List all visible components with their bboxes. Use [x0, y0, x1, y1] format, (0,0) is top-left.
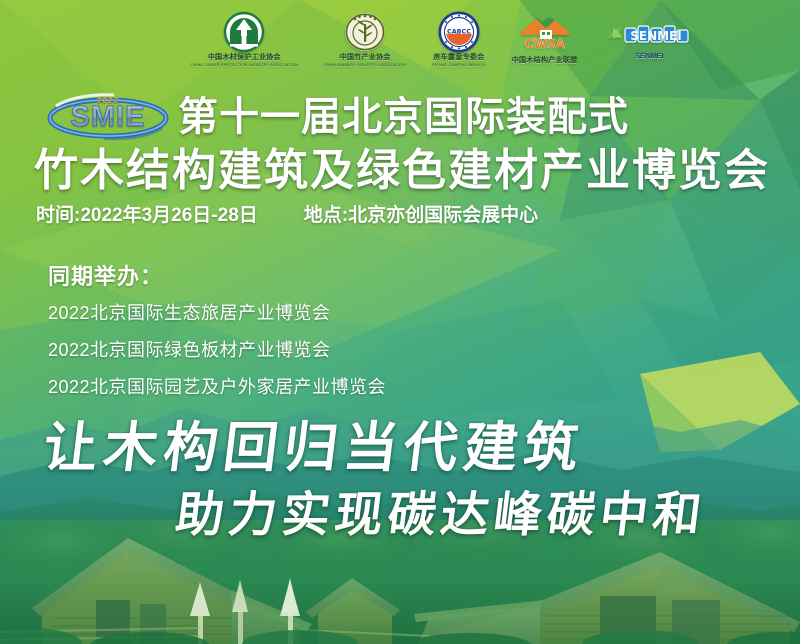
svg-text:CWSA: CWSA: [525, 37, 566, 51]
sponsor-name-en-bamboo-industry-association: CHINA BAMBOO INDUSTRY ASSOCIATION: [324, 63, 406, 68]
pine-tree-shield-icon: [223, 11, 265, 53]
sponsor-logo-strip: 中国木材保护工业协会 CHINA TIMBER PROTECTION INDUS…: [0, 0, 800, 78]
concurrent-events-heading: 同期举办：: [48, 264, 568, 290]
svg-text:SENMEI: SENMEI: [631, 29, 683, 43]
page-title-line-1: 第十一届北京国际装配式: [0, 92, 800, 142]
page-title-line-2: 竹木结构建筑及绿色建材产业博览会: [0, 142, 800, 198]
house-roof-cwsa-icon: CWSA: [516, 14, 574, 56]
sponsor-logo-cabcc-rv-camping[interactable]: CABCC 房车露营专委会 RV AND CAMPING BRANCH: [432, 11, 486, 68]
cabcc-round-badge-icon: CABCC: [438, 11, 480, 53]
event-date: 时间:2022年3月26日-28日: [36, 204, 258, 228]
sponsor-logo-china-timber-association[interactable]: 中国木材保护工业协会 CHINA TIMBER PROTECTION INDUS…: [191, 11, 299, 68]
title-block: 第十一届北京国际装配式 竹木结构建筑及绿色建材产业博览会: [0, 92, 800, 198]
bamboo-oval-star-icon: [344, 11, 386, 53]
sponsor-name-en-china-timber-association: CHINA TIMBER PROTECTION INDUSTRY ASSOCIA…: [191, 63, 299, 68]
svg-text:CABCC: CABCC: [447, 27, 471, 35]
sponsor-logo-senmei[interactable]: SENMEI SENMEI: [603, 18, 695, 61]
sponsor-name-cabcc-rv-camping: 房车露营专委会: [433, 54, 484, 62]
exhibition-poster: 中国木材保护工业协会 CHINA TIMBER PROTECTION INDUS…: [0, 0, 800, 644]
sponsor-name-senmei: SENMEI: [635, 53, 664, 61]
sponsor-name-en-cabcc-rv-camping: RV AND CAMPING BRANCH: [432, 63, 486, 68]
sponsor-logo-bamboo-industry-association[interactable]: 中国竹产业协会 CHINA BAMBOO INDUSTRY ASSOCIATIO…: [324, 11, 406, 68]
event-venue: 地点:北京亦创国际会展中心: [304, 204, 538, 228]
event-meta-row: 时间:2022年3月26日-28日 地点:北京亦创国际会展中心: [36, 204, 776, 228]
concurrent-events-section: 同期举办： 2022北京国际生态旅居产业博览会 2022北京国际绿色板材产业博览…: [48, 264, 568, 413]
sponsor-name-cwsa-wood-structure: 中国木结构产业联盟: [512, 57, 578, 65]
concurrent-event-item: 2022北京国际园艺及户外家居产业博览会: [48, 376, 568, 398]
sponsor-name-bamboo-industry-association: 中国竹产业协会: [340, 54, 391, 62]
concurrent-event-item: 2022北京国际绿色板材产业博览会: [48, 339, 568, 361]
sponsor-name-china-timber-association: 中国木材保护工业协会: [208, 54, 281, 62]
senmei-leaf-wordmark-icon: SENMEI: [603, 18, 695, 52]
slogan-line-1: 让木构回归当代建筑: [40, 416, 588, 478]
concurrent-event-item: 2022北京国际生态旅居产业博览会: [48, 302, 568, 324]
sponsor-logo-cwsa-wood-structure[interactable]: CWSA 中国木结构产业联盟: [512, 14, 578, 65]
slogan-line-2: 助力实现碳达峰碳中和: [173, 487, 710, 543]
